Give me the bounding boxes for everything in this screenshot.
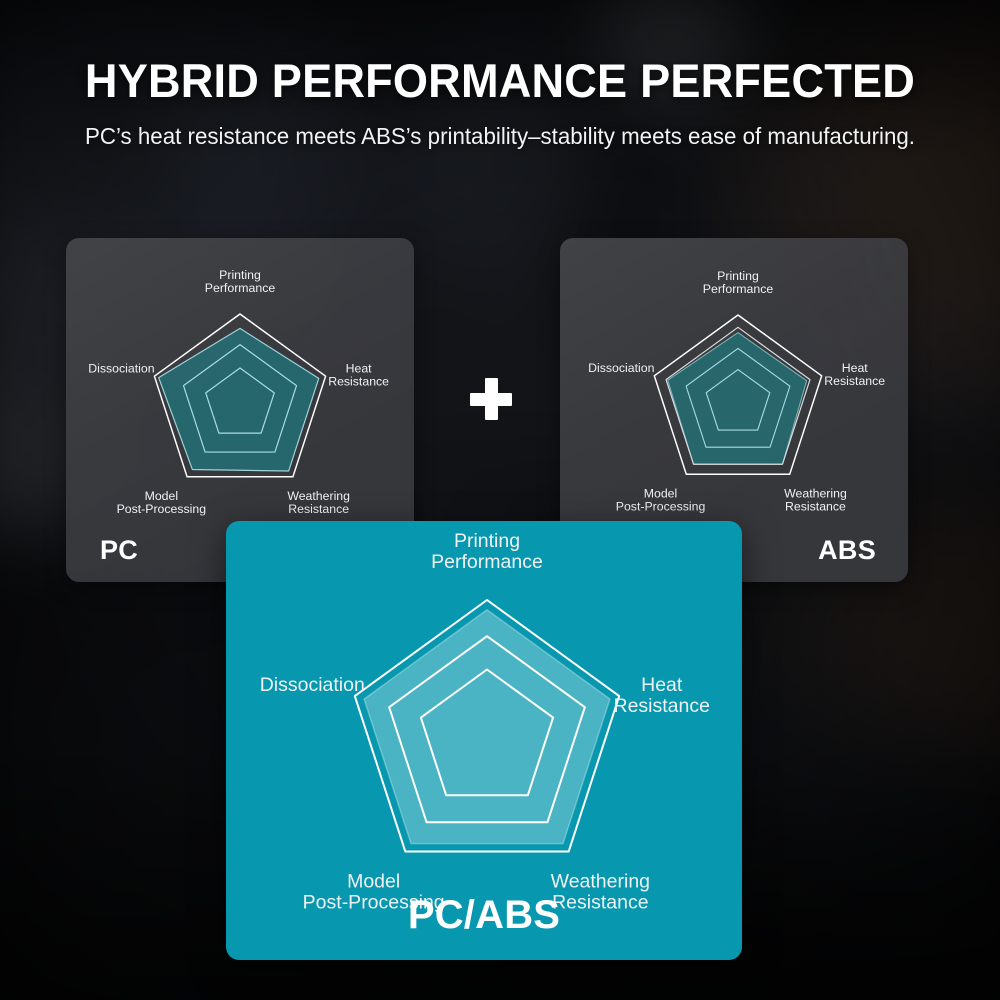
card-abs-title: ABS — [818, 535, 876, 566]
radar-axis-label: PrintingPerformance — [703, 269, 774, 296]
card-pc-title: PC — [100, 535, 138, 566]
promo-graphic: HYBRID PERFORMANCE PERFECTED PC’s heat r… — [0, 0, 1000, 1000]
radar-axis-label: PrintingPerformance — [431, 530, 543, 573]
page-title: HYBRID PERFORMANCE PERFECTED — [20, 52, 980, 110]
radar-axis-label: HeatResistance — [613, 674, 709, 717]
radar-axis-label: PrintingPerformance — [205, 268, 276, 295]
card-pcabs[interactable]: PrintingPerformanceHeatResistanceWeather… — [226, 521, 742, 960]
header: HYBRID PERFORMANCE PERFECTED PC’s heat r… — [0, 52, 1000, 151]
radar-axis-label: WeatheringResistance — [784, 487, 847, 514]
plus-icon — [470, 378, 512, 420]
radar-axis-label: WeatheringResistance — [287, 489, 350, 516]
radar-axis-label: ModelPost-Processing — [117, 489, 207, 516]
radar-axis-label: ModelPost-Processing — [616, 487, 706, 514]
radar-axis-label: Dissociation — [588, 361, 654, 375]
radar-axis-label: Dissociation — [260, 674, 365, 696]
radar-axis-label: HeatResistance — [328, 362, 389, 389]
radar-axis-label: HeatResistance — [824, 361, 885, 388]
radar-axis-label: Dissociation — [88, 362, 154, 376]
page-subtitle: PC’s heat resistance meets ABS’s printab… — [15, 121, 985, 151]
radar-data-polygon — [159, 328, 319, 471]
plus-bar-vertical — [485, 378, 498, 420]
card-pcabs-title: PC/ABS — [226, 893, 742, 938]
radar-data-polygon — [364, 610, 610, 844]
